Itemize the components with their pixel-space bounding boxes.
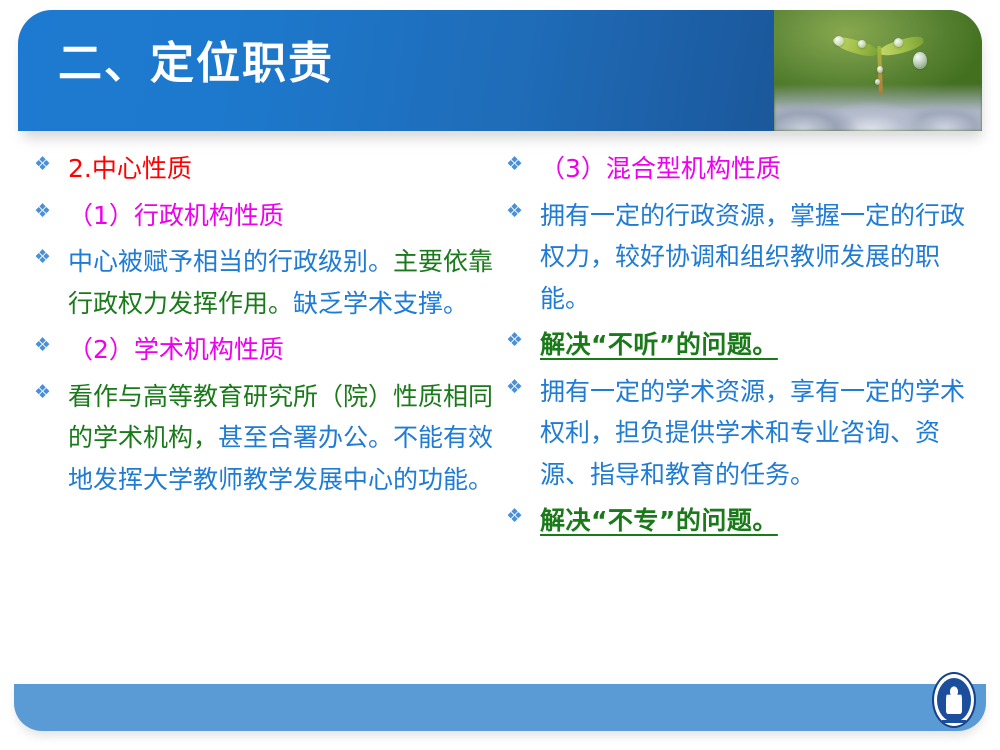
bullet-text: 2.中心性质 [68,148,494,190]
bullet-text: 解决“不专”的问题。 [540,500,966,542]
slide-content: ❖2.中心性质❖（1）行政机构性质❖中心被赋予相当的行政级别。主要依靠行政权力发… [0,148,1000,683]
bullet-item: ❖中心被赋予相当的行政级别。主要依靠行政权力发挥作用。缺乏学术支撑。 [34,241,494,324]
bullet-item: ❖（3）混合型机构性质 [506,148,966,190]
sprout-photo [774,10,982,131]
bullet-item: ❖（1）行政机构性质 [34,195,494,237]
text-segment: 拥有一定的学术资源，享有一定的学术权利，担负提供学术和专业咨询、资源、指导和教育… [540,377,965,489]
header-banner: 二、定位职责 [18,10,982,131]
page-title: 二、定位职责 [58,38,334,91]
bullet-diamond-icon: ❖ [34,148,68,174]
dewdrop-icon [894,38,903,47]
bullet-text: 拥有一定的学术资源，享有一定的学术权利，担负提供学术和专业咨询、资源、指导和教育… [540,371,966,496]
slide-footer [0,680,1000,742]
bullet-item: ❖拥有一定的行政资源，掌握一定的行政权力，较好协调和组织教师发展的职能。 [506,195,966,320]
right-column: ❖（3）混合型机构性质❖拥有一定的行政资源，掌握一定的行政权力，较好协调和组织教… [506,148,966,547]
bullet-text: 看作与高等教育研究所（院）性质相同的学术机构，甚至合署办公。不能有效地发挥大学教… [68,376,494,501]
text-segment: 解决“不听”的问题。 [540,330,778,359]
text-segment: 解决“不专”的问题。 [540,506,778,535]
bullet-diamond-icon: ❖ [34,329,68,355]
logo-base-bar [942,720,966,723]
bullet-item: ❖（2）学术机构性质 [34,329,494,371]
footer-bar [14,684,986,731]
slide-root: 二、定位职责 ❖2.中心性质❖（1）行政机构性质❖中心被赋予相当的行政级别。主要… [0,0,1000,750]
dewdrop-icon [875,79,880,85]
bullet-text: 中心被赋予相当的行政级别。主要依靠行政权力发挥作用。缺乏学术支撑。 [68,241,494,324]
bullet-item: ❖拥有一定的学术资源，享有一定的学术权利，担负提供学术和专业咨询、资源、指导和教… [506,371,966,496]
text-segment: 缺乏学术支撑。 [293,289,468,318]
university-seal-logo-icon [932,672,978,730]
text-segment: 拥有一定的行政资源，掌握一定的行政权力，较好协调和组织教师发展的职能。 [540,201,965,313]
bullet-item: ❖看作与高等教育研究所（院）性质相同的学术机构，甚至合署办公。不能有效地发挥大学… [34,376,494,501]
bullet-diamond-icon: ❖ [506,324,540,350]
bullet-diamond-icon: ❖ [506,500,540,526]
bullet-text: （2）学术机构性质 [68,329,494,371]
left-column: ❖2.中心性质❖（1）行政机构性质❖中心被赋予相当的行政级别。主要依靠行政权力发… [34,148,494,505]
bullet-text: 拥有一定的行政资源，掌握一定的行政权力，较好协调和组织教师发展的职能。 [540,195,966,320]
bullet-text: （3）混合型机构性质 [540,148,966,190]
bullet-diamond-icon: ❖ [34,376,68,402]
slide-header: 二、定位职责 [18,10,982,131]
bullet-item: ❖2.中心性质 [34,148,494,190]
bullet-text: 解决“不听”的问题。 [540,324,966,366]
bullet-item: ❖解决“不听”的问题。 [506,324,966,366]
dewdrop-icon [834,36,844,46]
bullet-diamond-icon: ❖ [506,148,540,174]
dewdrop-icon [913,52,927,69]
bullet-diamond-icon: ❖ [506,371,540,397]
text-segment: （1）行政机构性质 [68,201,284,230]
bullet-diamond-icon: ❖ [506,195,540,221]
text-segment: （3）混合型机构性质 [540,154,781,183]
bullet-diamond-icon: ❖ [34,195,68,221]
text-segment: 中心被赋予相当的行政级别。 [68,247,393,276]
dewdrop-icon [877,66,883,73]
bullet-item: ❖解决“不专”的问题。 [506,500,966,542]
bullet-diamond-icon: ❖ [34,241,68,267]
dewdrop-icon [858,40,866,48]
bullet-text: （1）行政机构性质 [68,195,494,237]
logo-glyph [946,686,962,714]
text-segment: （2）学术机构性质 [68,335,284,364]
text-segment: 2.中心性质 [68,154,192,183]
